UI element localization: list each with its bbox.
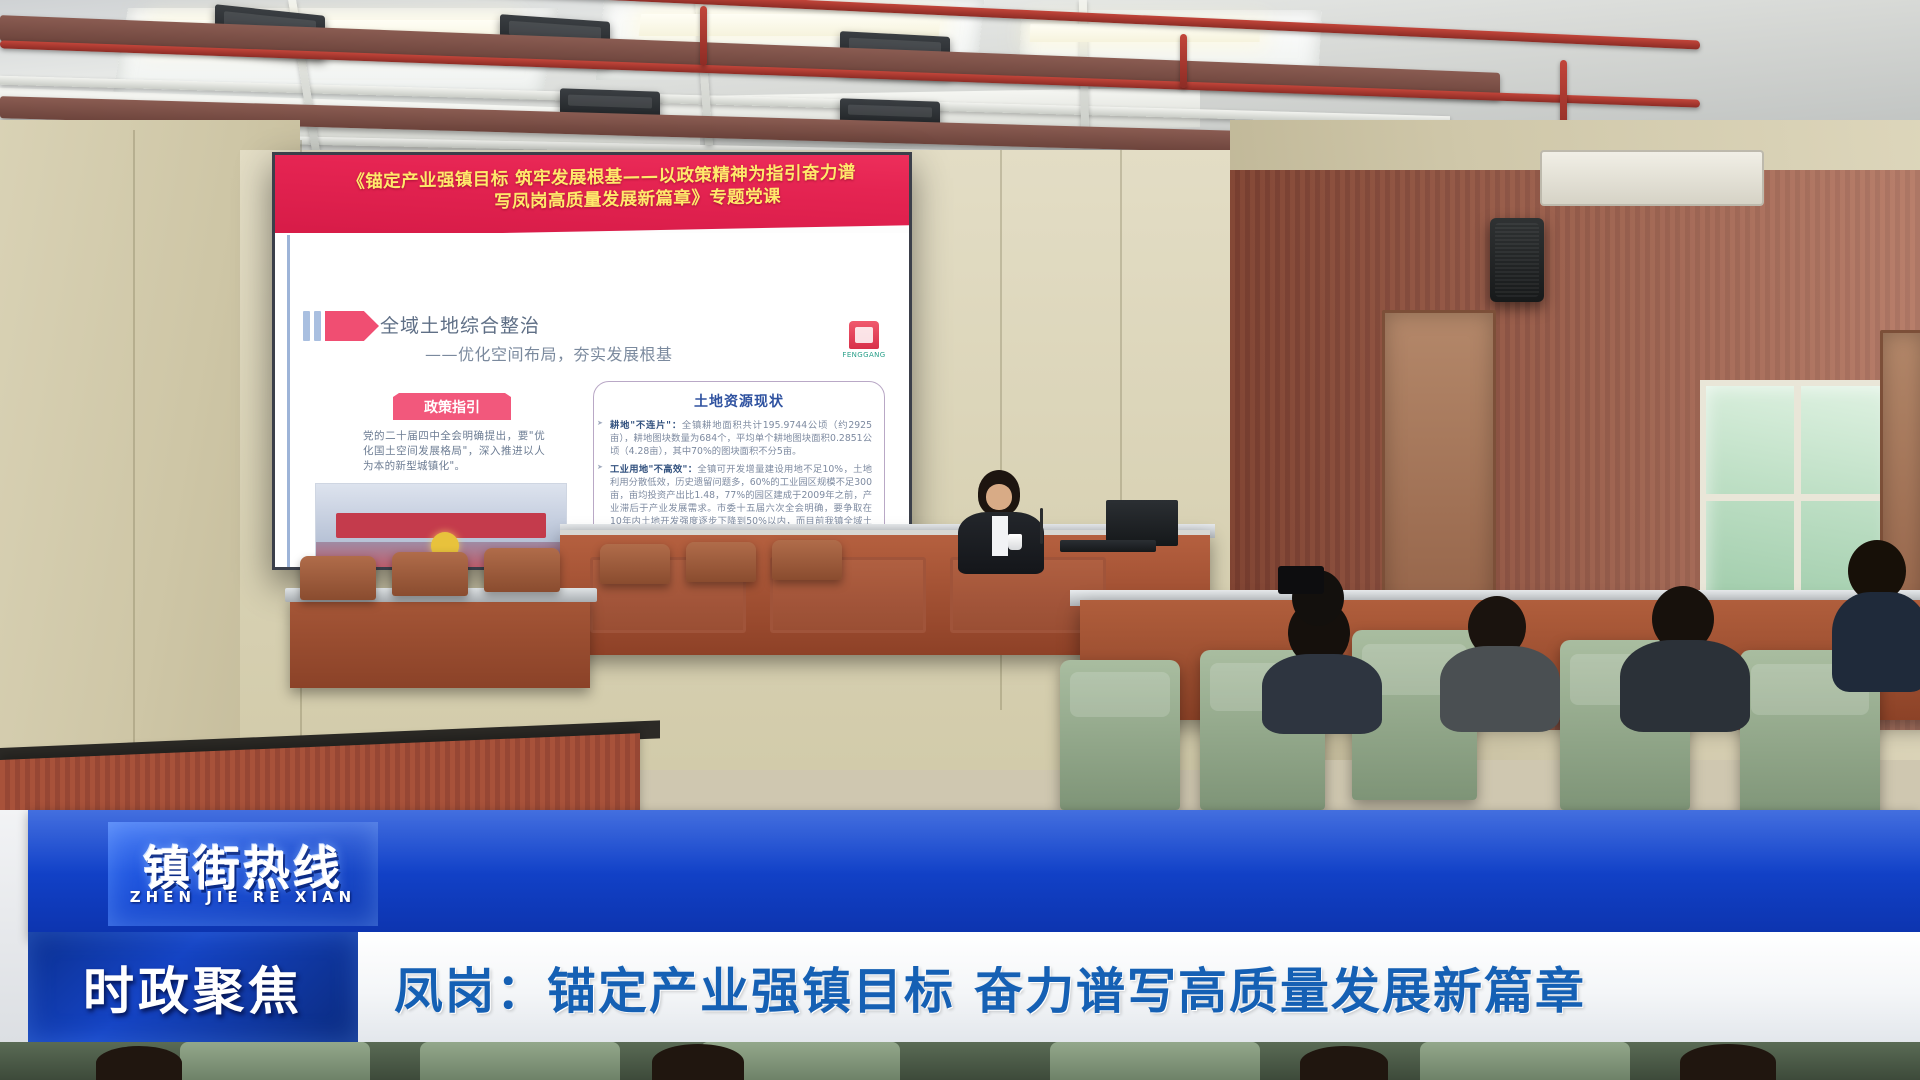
water-cup [1008,534,1022,550]
section-marker [303,311,379,341]
audience-member [1440,596,1560,726]
audience-seat[interactable] [1060,660,1180,810]
bullet-lead: 工业用地"不高效"： [610,464,697,475]
list-item: 耕地"不连片"：全镇耕地面积共计195.9744公顷（约2925亩），耕地图块数… [610,419,872,459]
conference-room-scene: 《锚定产业强镇目标 筑牢发展根基——以政策精神为指引奋力谱 写凤岗高质量发展新篇… [0,0,1920,1080]
logo-shield-icon [849,321,879,349]
section-bar [314,311,321,341]
slide-banner-text: 《锚定产业强镇目标 筑牢发展根基——以政策精神为指引奋力谱 写凤岗高质量发展新篇… [337,162,866,217]
air-conditioner [1540,150,1764,206]
slide-left-rule [287,235,290,567]
presenter [940,470,1070,570]
logo-text: FENGGANG [837,351,891,359]
fenggang-logo: FENGGANG [837,321,891,373]
section-bar [303,311,310,341]
audience-member-camera [1268,560,1388,670]
front-bench [290,596,590,688]
chair[interactable] [686,542,756,582]
slide-section-title: 全域土地综合整治 [380,311,540,338]
chair[interactable] [772,540,842,580]
broadcast-frame: 《锚定产业强镇目标 筑牢发展根基——以政策精神为指引奋力谱 写凤岗高质量发展新篇… [0,0,1920,1080]
chair[interactable] [300,556,376,600]
chair[interactable] [600,544,670,584]
slide-red-banner: 《锚定产业强镇目标 筑牢发展根基——以政策精神为指引奋力谱 写凤岗高质量发展新篇… [275,155,909,237]
chair[interactable] [484,548,560,592]
projection-screen-frame: 《锚定产业强镇目标 筑牢发展根基——以政策精神为指引奋力谱 写凤岗高质量发展新篇… [272,152,912,570]
policy-tag: 政策指引 [393,393,511,420]
chair[interactable] [392,552,468,596]
audience-member [1832,540,1920,690]
microphone [1040,508,1043,544]
bullet-lead: 耕地"不连片"： [610,420,682,431]
wall-speaker [1490,218,1544,302]
presentation-slide: 《锚定产业强镇目标 筑牢发展根基——以政策精神为指引奋力谱 写凤岗高质量发展新篇… [275,155,909,567]
sprinkler-drop [700,6,707,66]
slide-body: 全域土地综合整治 ——优化空间布局，夯实发展根基 政策指引 党的二十届四中全会明… [275,233,909,567]
policy-text: 党的二十届四中全会明确提出，要"优化国土空间发展格局"，深入推进以人为本的新型城… [363,429,545,475]
audience-member [1620,586,1750,726]
sprinkler-drop [1180,34,1187,88]
slide-section-subtitle: ——优化空间布局，夯实发展根基 [425,341,673,365]
wall-seam [133,130,135,770]
section-arrow-icon [325,311,379,341]
land-status-title: 土地资源现状 [594,391,884,411]
monitor [1060,540,1156,552]
wainscot-panel [0,733,640,890]
door [1382,310,1496,616]
